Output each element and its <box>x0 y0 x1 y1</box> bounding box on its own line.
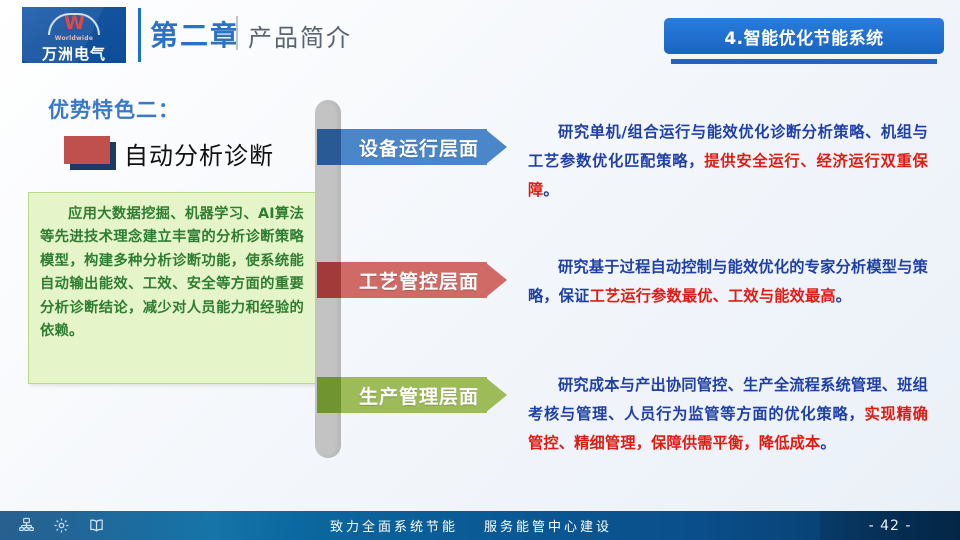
layer-chevron-production[interactable]: 生产管理层面 <box>317 377 479 413</box>
chevron-arrow-icon <box>485 129 507 165</box>
book-icon[interactable] <box>88 511 105 540</box>
layer-chevron-equipment[interactable]: 设备运行层面 <box>317 129 479 165</box>
chapter-title: 第二章 <box>150 14 240 54</box>
text-plain-tail: 。 <box>820 434 835 452</box>
slide-header: W Worldwide 万洲电气 第二章 产品简介 4.智能优化节能系统 <box>0 0 960 72</box>
layer-label: 工艺管控层面 <box>359 267 479 294</box>
header-divider <box>138 8 141 62</box>
marker-square-icon <box>64 136 110 164</box>
description-text: 应用大数据挖掘、机器学习、AI算法等先进技术理念建立丰富的分析诊断策略模型，构建… <box>40 203 304 343</box>
logo-w-letter: W <box>64 14 84 33</box>
text-plain-tail: 。 <box>543 181 558 199</box>
layer-chevron-process[interactable]: 工艺管控层面 <box>317 262 479 298</box>
footer-slogan-right: 服务能管中心建设 <box>484 511 612 540</box>
chevron-cap <box>317 129 343 165</box>
chapter-separator <box>236 16 238 50</box>
section-badge: 4.智能优化节能系统 <box>664 18 944 54</box>
slide-footer: 致力全面系统节能 服务能管中心建设 - 42 - <box>0 511 960 540</box>
footer-slogan-left: 致力全面系统节能 <box>330 511 458 540</box>
description-callout: 应用大数据挖掘、机器学习、AI算法等先进技术理念建立丰富的分析诊断策略模型，构建… <box>28 192 316 384</box>
feature-title: 优势特色二： <box>48 94 180 124</box>
page-number: - 42 - <box>820 511 960 540</box>
logo-brand-en: Worldwide <box>22 35 126 42</box>
sitemap-icon[interactable] <box>18 511 35 540</box>
section-badge-label: 4.智能优化节能系统 <box>724 24 883 49</box>
feature-subtitle: 自动分析诊断 <box>124 136 274 171</box>
layer-description-process: 研究基于过程自动控制与能效优化的专家分析模型与策略，保证工艺运行参数最优、工效与… <box>528 253 928 311</box>
text-emphasis: 工艺运行参数最优、工效与能效最高 <box>590 287 836 305</box>
logo-brand-cn: 万洲电气 <box>22 43 126 63</box>
slide-root: W Worldwide 万洲电气 第二章 产品简介 4.智能优化节能系统 优势特… <box>0 0 960 540</box>
chevron-cap <box>317 377 343 413</box>
layer-label: 设备运行层面 <box>359 134 479 161</box>
section-badge-underline <box>671 59 937 64</box>
gear-icon[interactable] <box>53 511 70 540</box>
text-plain-tail: 。 <box>836 287 851 305</box>
chevron-arrow-icon <box>485 262 507 298</box>
chapter-subtitle: 产品简介 <box>248 18 352 53</box>
chevron-arrow-icon <box>485 377 507 413</box>
arch-w-icon <box>48 13 100 35</box>
company-logo: W Worldwide 万洲电气 <box>22 7 126 63</box>
layer-label: 生产管理层面 <box>359 382 479 409</box>
chevron-cap <box>317 262 343 298</box>
layer-description-equipment: 研究单机/组合运行与能效优化诊断分析策略、机组与工艺参数优化匹配策略，提供安全运… <box>528 118 928 205</box>
layer-description-production: 研究成本与产出协同管控、生产全流程系统管理、班组考核与管理、人员行为监管等方面的… <box>528 371 928 458</box>
